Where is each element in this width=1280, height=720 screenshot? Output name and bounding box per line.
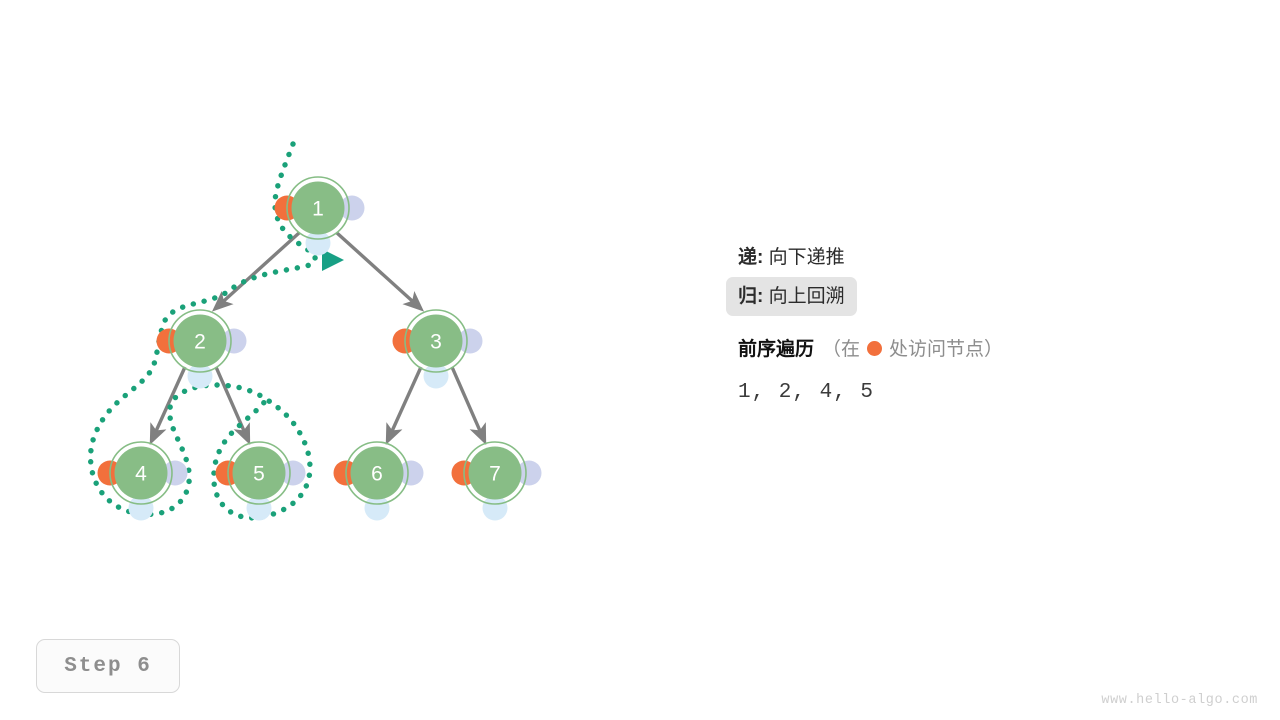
traversal-note-close: 处访问节点） <box>889 334 1003 361</box>
traversal-note-open: （在 <box>822 334 860 361</box>
node-5-label: 5 <box>253 463 265 486</box>
legend-panel: 递: 向下递推 归: 向上回溯 前序遍历 （在 处访问节点） 1, 2, 4, … <box>726 238 1246 404</box>
legend-backtrack-text: 向上回溯 <box>769 286 845 307</box>
node-7-label: 7 <box>489 463 501 486</box>
legend-spacer <box>726 316 1246 334</box>
tree-nodes: 1 2 3 <box>98 177 542 521</box>
tree-node-7[interactable]: 7 <box>452 442 542 521</box>
legend-backtrack-key: 归: <box>738 286 763 307</box>
legend-row-recurse: 递: 向下递推 <box>726 238 1246 277</box>
edge-2-5 <box>216 367 248 440</box>
legend-recurse-text: 向下递推 <box>769 247 845 268</box>
tree-node-6[interactable]: 6 <box>334 442 424 521</box>
node-2-label: 2 <box>194 331 206 354</box>
step-badge: Step 6 <box>36 639 180 693</box>
node-4-label: 4 <box>135 463 147 486</box>
tree-node-5[interactable]: 5 <box>216 442 306 521</box>
node-3-label: 3 <box>430 331 442 354</box>
edge-1-3 <box>337 233 420 308</box>
node-6-label: 6 <box>371 463 383 486</box>
tree-node-3[interactable]: 3 <box>393 310 483 389</box>
traversal-name: 前序遍历 <box>738 334 814 361</box>
traversal-heading: 前序遍历 （在 处访问节点） <box>726 334 1246 361</box>
legend-row-backtrack: 归: 向上回溯 <box>726 277 1246 316</box>
visit-marker-icon <box>867 341 882 356</box>
legend-recurse-key: 递: <box>738 247 763 268</box>
node-1-label: 1 <box>312 198 324 221</box>
tree-node-2[interactable]: 2 <box>157 310 247 389</box>
edge-2-4 <box>152 367 185 440</box>
edge-3-7 <box>452 367 484 440</box>
edge-3-6 <box>388 367 421 440</box>
traversal-sequence: 1, 2, 4, 5 <box>726 381 1246 404</box>
diagram-canvas: 1 2 3 <box>0 0 1280 720</box>
legend-backtrack-line: 归: 向上回溯 <box>726 277 857 316</box>
legend-recurse-line: 递: 向下递推 <box>726 238 857 277</box>
watermark: www.hello-algo.com <box>1101 693 1258 708</box>
